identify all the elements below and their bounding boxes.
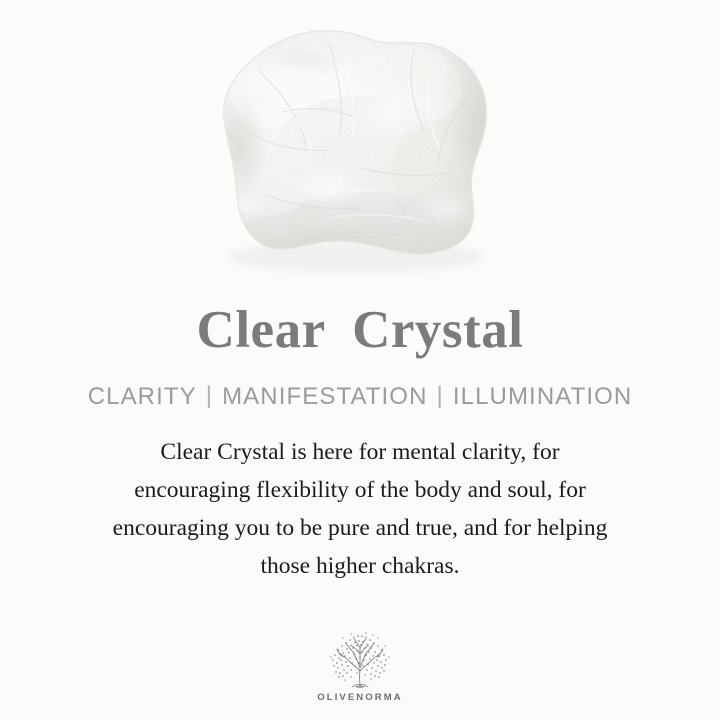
description-line: those higher chakras.	[40, 547, 680, 585]
tree-of-life-icon	[323, 629, 397, 691]
keyword-separator: |	[428, 384, 453, 408]
description-text: Clear Crystal is here for mental clarity…	[40, 409, 680, 585]
hero-image-area	[0, 0, 720, 282]
description-line: encouraging you to be pure and true, and…	[40, 509, 680, 547]
description-line: encouraging flexibility of the body and …	[40, 471, 680, 509]
keyword-manifestation: MANIFESTATION	[222, 385, 427, 409]
keyword-row: CLARITY | MANIFESTATION | ILLUMINATION	[88, 357, 633, 409]
brand-logo: OLIVENORMA	[0, 629, 720, 703]
keyword-separator: |	[197, 384, 222, 408]
page-title: Clear Crystal	[197, 282, 524, 357]
description-line: Clear Crystal is here for mental clarity…	[40, 433, 680, 471]
keyword-illumination: ILLUMINATION	[453, 385, 632, 409]
clear-crystal-image	[0, 0, 720, 282]
brand-name: OLIVENORMA	[317, 693, 402, 703]
keyword-clarity: CLARITY	[88, 385, 197, 409]
product-info-card: Clear Crystal CLARITY | MANIFESTATION | …	[0, 0, 720, 720]
